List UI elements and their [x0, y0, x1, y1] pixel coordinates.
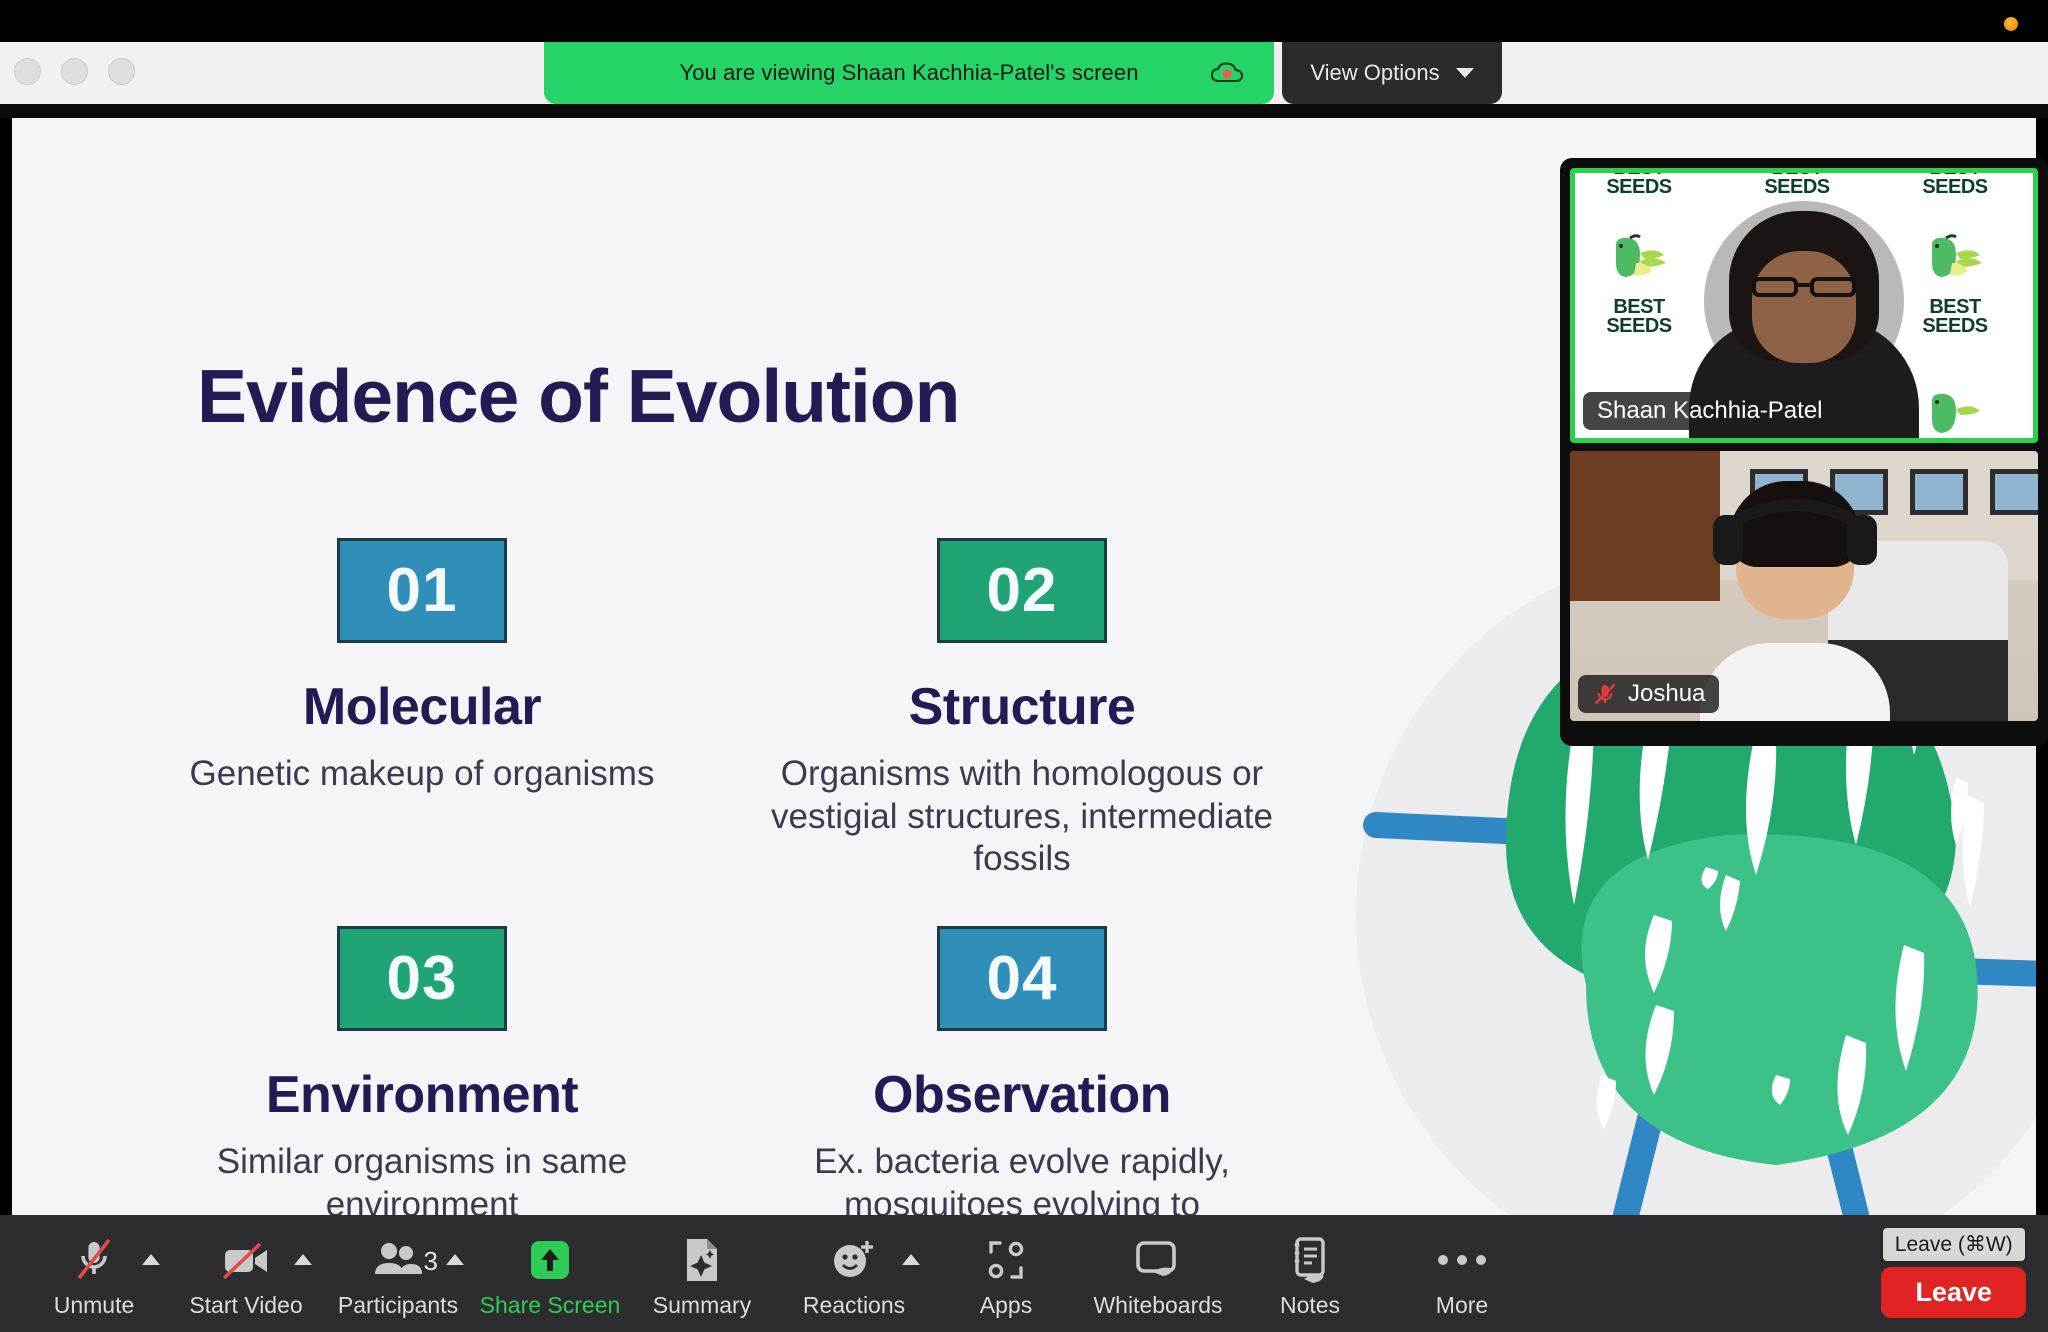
close-button[interactable] [14, 58, 41, 85]
toolbar-summary-button[interactable]: Summary [626, 1228, 778, 1319]
card-title: Molecular [162, 677, 682, 737]
video-off-icon [220, 1234, 272, 1286]
seed-logo-icon [1924, 233, 1986, 291]
card-title: Environment [162, 1065, 682, 1125]
card-title: Observation [762, 1065, 1282, 1125]
macos-menu-strip [0, 0, 2048, 42]
card-description: Organisms with homologous or vestigial s… [762, 753, 1282, 881]
card-number-badge: 04 [937, 926, 1107, 1031]
participant-face [1752, 251, 1856, 363]
toolbar-start-video-button[interactable]: Start Video [170, 1228, 322, 1319]
card-number-badge: 01 [337, 538, 507, 643]
toolbar-more-button[interactable]: More [1386, 1228, 1538, 1319]
toolbar-label: Summary [653, 1292, 751, 1319]
video-thumbnail-panel[interactable]: BEST SEEDS BEST SEEDS BEST SEEDS [1560, 158, 2048, 746]
toolbar-unmute-button[interactable]: Unmute [18, 1228, 170, 1319]
evidence-card-1: 01 Molecular Genetic makeup of organisms [162, 538, 682, 796]
glasses-icon [1752, 277, 1856, 297]
seed-logo-text-bottom: SEEDS [1901, 317, 2009, 336]
leave-tooltip: Leave (⌘W) [1883, 1228, 2025, 1261]
evidence-card-3: 03 Environment Similar organisms in same… [162, 926, 682, 1215]
card-description: Similar organisms in same environment [162, 1141, 682, 1215]
share-screen-icon [527, 1234, 573, 1286]
toolbar-participants-button[interactable]: Participants 3 [322, 1228, 474, 1319]
toolbar-items: Unmute Start Video [0, 1228, 1538, 1319]
chevron-up-icon[interactable] [142, 1254, 160, 1265]
toolbar-label: Share Screen [480, 1292, 621, 1319]
toolbar-label: Apps [980, 1292, 1032, 1319]
toolbar-notes-button[interactable]: Notes [1234, 1228, 1386, 1319]
cabinet-shape [1570, 451, 1720, 601]
window-traffic-lights [14, 58, 135, 85]
muted-microphone-icon [1592, 681, 1618, 707]
toolbar-label: Whiteboards [1093, 1292, 1222, 1319]
headphones-icon [1711, 497, 1879, 569]
participant-tile-active[interactable]: BEST SEEDS BEST SEEDS BEST SEEDS [1570, 168, 2038, 443]
toolbar-label: Participants [338, 1292, 458, 1319]
share-border-gap [0, 104, 2048, 118]
toolbar-label: Reactions [803, 1292, 905, 1319]
maximize-button[interactable] [108, 58, 135, 85]
participants-count: 3 [424, 1246, 438, 1277]
cloud-recording-icon [1210, 61, 1244, 85]
reactions-smiley-icon [829, 1234, 879, 1286]
toolbar-label: More [1436, 1292, 1488, 1319]
framed-picture [1910, 469, 1968, 515]
screen-share-banner-text: You are viewing Shaan Kachhia-Patel's sc… [679, 60, 1138, 86]
card-description: Genetic makeup of organisms [162, 753, 682, 796]
toolbar-label: Notes [1280, 1292, 1340, 1319]
seed-logo-text-bottom: SEEDS [1901, 178, 2009, 197]
toolbar-label: Start Video [189, 1292, 302, 1319]
chevron-up-icon[interactable] [294, 1254, 312, 1265]
card-number: 02 [987, 555, 1058, 626]
toolbar-label: Unmute [54, 1292, 135, 1319]
camera-active-dot-icon [2004, 17, 2018, 31]
participant-name: Joshua [1628, 680, 1705, 708]
chevron-down-icon [1456, 68, 1474, 78]
seed-logo-text-bottom: SEEDS [1585, 178, 1693, 197]
seed-logo-icon [1608, 233, 1670, 291]
seed-logo-text-bottom: SEEDS [1743, 178, 1851, 197]
more-ellipsis-icon [1435, 1234, 1489, 1286]
toolbar-share-screen-button[interactable]: Share Screen [474, 1228, 626, 1319]
toolbar-reactions-button[interactable]: Reactions [778, 1228, 930, 1319]
card-title: Structure [762, 677, 1282, 737]
notes-icon [1288, 1234, 1332, 1286]
evidence-card-2: 02 Structure Organisms with homologous o… [762, 538, 1282, 881]
evidence-card-4: 04 Observation Ex. bacteria evolve rapid… [762, 926, 1282, 1215]
view-options-button[interactable]: View Options [1282, 42, 1502, 104]
card-number: 03 [387, 943, 458, 1014]
leave-button[interactable]: Leave [1881, 1267, 2026, 1318]
card-number-badge: 03 [337, 926, 507, 1031]
participant-name-tag: Shaan Kachhia-Patel [1583, 392, 1837, 430]
chevron-up-icon[interactable] [446, 1254, 464, 1265]
framed-picture [1990, 469, 2038, 515]
seed-logo-icon [1924, 389, 1986, 443]
participant-name: Shaan Kachhia-Patel [1597, 397, 1823, 425]
minimize-button[interactable] [61, 58, 88, 85]
page-title: Evidence of Evolution [197, 353, 959, 439]
chevron-up-icon[interactable] [902, 1254, 920, 1265]
card-description: Ex. bacteria evolve rapidly, mosquitoes … [762, 1141, 1282, 1215]
summary-doc-sparkle-icon [681, 1234, 723, 1286]
card-number-badge: 02 [937, 538, 1107, 643]
toolbar-whiteboards-button[interactable]: Whiteboards [1082, 1228, 1234, 1319]
screen-share-banner: You are viewing Shaan Kachhia-Patel's sc… [544, 42, 1274, 104]
card-number: 04 [987, 943, 1058, 1014]
toolbar-apps-button[interactable]: Apps [930, 1228, 1082, 1319]
card-number: 01 [387, 555, 458, 626]
seed-logo-text-bottom: SEEDS [1585, 317, 1693, 336]
microphone-muted-icon [72, 1234, 116, 1286]
meeting-toolbar: Unmute Start Video [0, 1215, 2048, 1332]
participants-icon [373, 1234, 423, 1286]
view-options-label: View Options [1310, 60, 1439, 86]
zoom-meeting-window: You are viewing Shaan Kachhia-Patel's sc… [0, 0, 2048, 1332]
whiteboard-icon [1133, 1234, 1183, 1286]
participant-name-tag: Joshua [1578, 675, 1719, 713]
leave-control-group: Leave (⌘W) Leave [1881, 1228, 2026, 1318]
participant-tile[interactable]: Joshua [1570, 451, 2038, 721]
apps-icon [983, 1234, 1029, 1286]
